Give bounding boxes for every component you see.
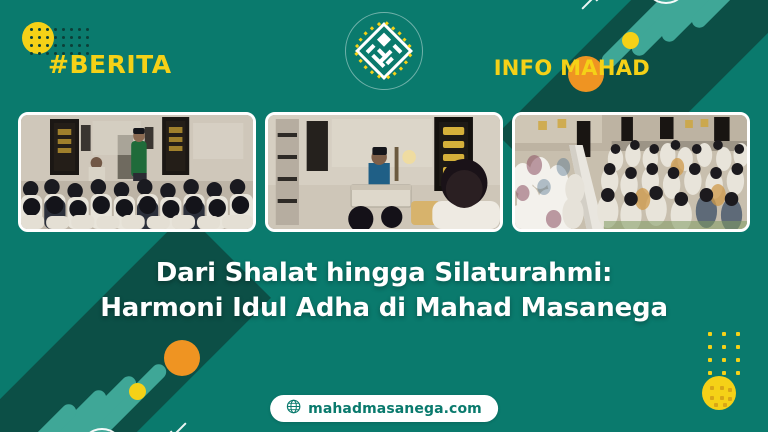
photo-khatib-at-mimbar[interactable] <box>265 112 503 232</box>
dot <box>62 28 65 31</box>
dot <box>54 44 57 47</box>
dot <box>728 388 732 392</box>
white-hairline <box>595 0 633 2</box>
dot <box>736 358 740 362</box>
headline-line-1: Dari Shalat hingga Silaturahmi: <box>156 258 613 288</box>
white-hairline <box>581 0 625 10</box>
dot-grid <box>704 328 746 380</box>
dot <box>78 36 81 39</box>
dot <box>736 345 740 349</box>
white-arc <box>71 419 133 432</box>
tag-berita: #BERITA <box>48 50 172 79</box>
dot <box>722 358 726 362</box>
mahad-masanega-logo-icon <box>345 12 423 90</box>
poster-canvas: #BERITA INFO MAHAD <box>0 0 768 432</box>
photo-speaker-addressing-congregation[interactable] <box>18 112 256 232</box>
yellow-circle <box>702 376 736 410</box>
dot <box>38 28 41 31</box>
decoration-dot-grid-bottom-right <box>696 328 750 404</box>
dot <box>714 403 718 407</box>
dot <box>708 371 712 375</box>
dot <box>46 44 49 47</box>
dot <box>720 386 724 390</box>
dot <box>708 345 712 349</box>
dot <box>710 386 714 390</box>
teal-stripe <box>0 401 79 432</box>
dot <box>720 396 724 400</box>
headline-line-2: Harmoni Idul Adha di Mahad Masanega <box>40 291 728 326</box>
dot <box>722 345 726 349</box>
dot <box>30 52 33 55</box>
dot <box>70 28 73 31</box>
teal-stripe <box>689 0 768 31</box>
dot <box>722 332 726 336</box>
dot <box>62 44 65 47</box>
dot <box>38 36 41 39</box>
dot <box>62 36 65 39</box>
dot <box>54 28 57 31</box>
teal-stripe <box>53 361 170 432</box>
website-url-label: mahadmasanega.com <box>308 401 482 417</box>
dot <box>86 36 89 39</box>
tag-info-mahad: INFO MAHAD <box>494 56 650 80</box>
yellow-dot <box>622 32 639 49</box>
teal-stripe <box>659 0 760 45</box>
photo-gallery <box>18 112 750 232</box>
dot <box>736 371 740 375</box>
white-hairline <box>143 422 187 432</box>
dot <box>722 371 726 375</box>
dot <box>38 44 41 47</box>
dot <box>86 28 89 31</box>
teal-stripe <box>30 373 140 432</box>
dot <box>708 358 712 362</box>
dot <box>728 397 732 401</box>
dot <box>70 36 73 39</box>
website-badge[interactable]: mahadmasanega.com <box>270 395 498 422</box>
white-arc <box>635 0 697 13</box>
dot <box>30 28 33 31</box>
teal-stripe <box>629 0 739 59</box>
dot <box>723 403 727 407</box>
dot <box>70 44 73 47</box>
dot <box>54 36 57 39</box>
dot <box>78 28 81 31</box>
page-title: Dari Shalat hingga Silaturahmi: Harmoni … <box>0 256 768 325</box>
dot <box>78 44 81 47</box>
orange-dot-large <box>164 340 200 376</box>
dot <box>736 332 740 336</box>
dot <box>30 44 33 47</box>
globe-icon <box>286 399 301 419</box>
photo-congregation-idul-adha[interactable] <box>512 112 750 232</box>
dot <box>708 332 712 336</box>
teal-stripe <box>8 387 109 432</box>
yellow-dot <box>129 383 146 400</box>
dot <box>46 28 49 31</box>
dot <box>30 36 33 39</box>
dot <box>710 396 714 400</box>
dot <box>86 44 89 47</box>
dot <box>38 52 41 55</box>
dot <box>46 36 49 39</box>
